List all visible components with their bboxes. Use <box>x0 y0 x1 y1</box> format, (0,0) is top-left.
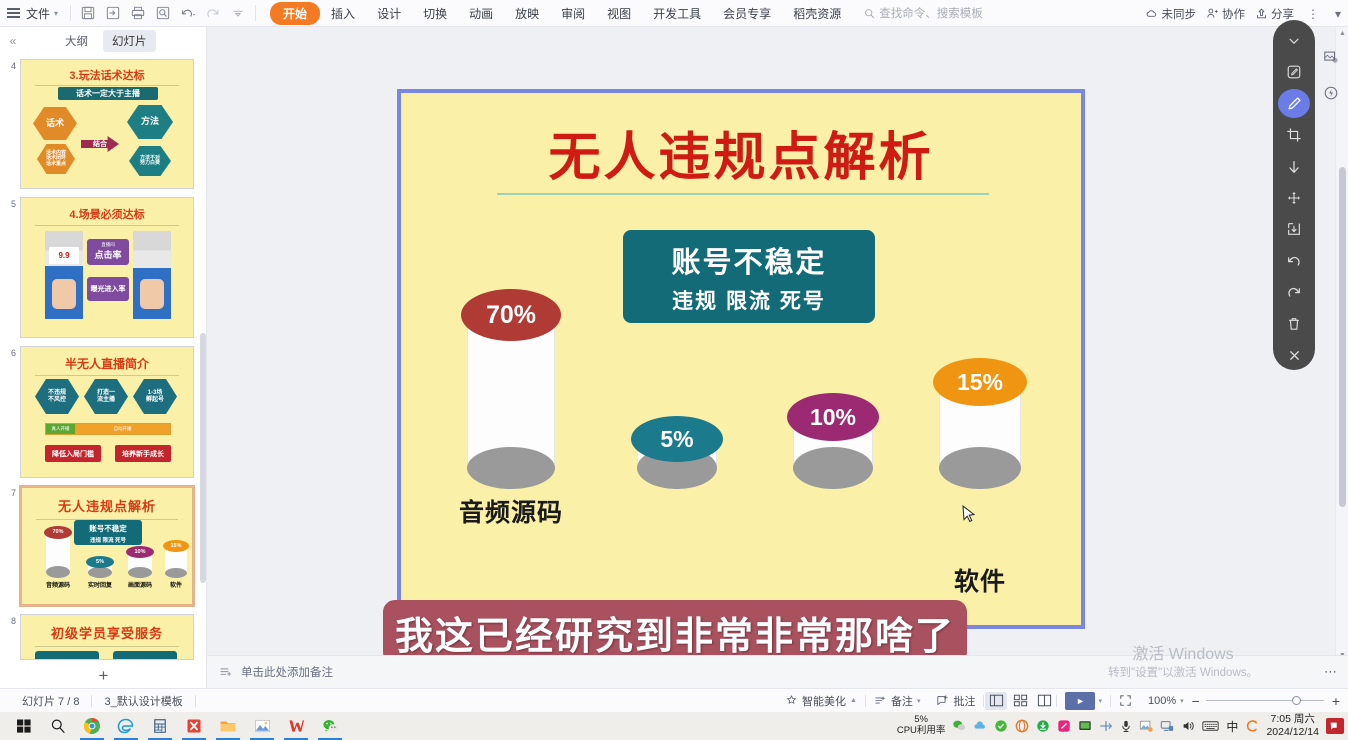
thumb-title: 无人违规点解析 <box>22 496 192 515</box>
screenshot-edit-icon[interactable] <box>1278 57 1310 86</box>
ribbon-bar: 文件 ▾ <box>0 0 1348 27</box>
cloud-sync-label: 未同步 <box>1161 6 1196 22</box>
thumbnail-item[interactable]: 6 半无人直播简介 不违规 不风控 打造一 流主播 1-3场 孵起号 真人开播 … <box>0 342 207 482</box>
display-tray-icon[interactable] <box>1160 719 1174 733</box>
chevron-down-icon[interactable] <box>1278 26 1310 55</box>
thumb-bar-left: 真人开播 <box>46 424 75 434</box>
more-options-icon[interactable]: ⋮ <box>1304 7 1322 21</box>
notes-placeholder: 单击此处添加备注 <box>241 664 333 680</box>
tab-member-exclusive[interactable]: 会员专享 <box>712 2 782 25</box>
stage-scrollbar[interactable]: ▲ ▼ ▾ <box>1335 27 1348 688</box>
cylinder-bar-4[interactable]: 15% 软件 <box>939 358 1021 489</box>
slide-number: 4 <box>2 59 20 71</box>
file-explorer-icon[interactable] <box>218 716 238 736</box>
share-label: 分享 <box>1271 6 1294 22</box>
thumb-arrow-label: 结合 <box>81 136 119 152</box>
slide-thumbnail-4[interactable]: 3.玩法话术达标 话术一定大于主播 话术 方法 话术内容 话术闭环 话术重点 方… <box>20 59 194 189</box>
app-menu-icon[interactable] <box>0 12 26 14</box>
thumb-hand <box>52 279 76 309</box>
status-bar: 幻灯片 7 / 8 3_默认设计模板 智能美化 ▲ 备注 ▾ 批注 <box>0 688 1348 712</box>
thumb-title: 4.场景必须达标 <box>21 206 193 222</box>
divider <box>255 5 256 21</box>
file-menu-button[interactable]: 文件 ▾ <box>26 5 64 22</box>
thumb-bar-label-1: 音频源码 <box>42 580 74 589</box>
normal-view-icon[interactable] <box>985 692 1007 710</box>
bar-value-3: 10% <box>787 393 879 441</box>
windows-taskbar: 5% CPU利用率 中 7:05 周六 2024/12/14 <box>0 712 1348 740</box>
thumb-bar-pct-1: 70% <box>44 526 72 539</box>
comment-icon <box>936 694 949 707</box>
thumb-hex-2: 打造一 流主播 <box>84 379 128 414</box>
zoom-level-label: 100% <box>1148 695 1176 707</box>
customize-qat-icon[interactable] <box>227 3 249 23</box>
delete-trash-icon[interactable] <box>1278 309 1310 338</box>
bar-label-1: 音频源码 <box>439 493 583 529</box>
slide-editing-stage[interactable]: 无人违规点解析 账号不稳定 违规 限流 死号 70% 音频源码 5% 实时回复 <box>207 27 1348 688</box>
close-x-icon[interactable] <box>1278 341 1310 370</box>
share-icon <box>1255 7 1268 20</box>
panel-tabs: 大纲 幻灯片 <box>56 30 156 52</box>
wps-presentation-window: 文件 ▾ <box>0 0 1348 740</box>
tab-transition[interactable]: 切换 <box>412 2 458 25</box>
thumb-bar-4: 15% <box>165 540 187 578</box>
cpu-label: CPU利用率 <box>897 726 946 737</box>
microphone-icon[interactable] <box>1120 719 1132 733</box>
template-name-label[interactable]: 3_默认设计模板 <box>92 693 194 709</box>
zoom-slider-track[interactable] <box>1206 700 1324 701</box>
save-download-icon[interactable] <box>1278 215 1310 244</box>
tab-slideshow[interactable]: 放映 <box>504 2 550 25</box>
thumb-tag-2: 培养新手成长 <box>115 445 171 462</box>
thumb-bar-label-4: 软件 <box>163 580 189 589</box>
thumb-bar-3: 10% <box>128 546 152 578</box>
taskbar-icons <box>0 716 340 736</box>
cylinder-bar-1[interactable]: 70% 音频源码 <box>467 289 555 489</box>
notes-icon <box>219 665 233 679</box>
mouse-cursor <box>962 505 976 523</box>
search-icon[interactable] <box>48 716 68 736</box>
browser-tray-icon[interactable] <box>1015 719 1029 733</box>
right-side-dock <box>1318 46 1344 104</box>
panel-header: « 大纲 幻灯片 <box>0 27 206 55</box>
thumbnail-item-selected[interactable]: 7 无人违规点解析 账号不稳定 违规 限流 死号 70% <box>0 482 207 610</box>
cpu-usage-indicator[interactable]: 5% CPU利用率 <box>897 715 946 737</box>
thumb-box-label: 点击率 <box>87 248 129 261</box>
reading-view-icon[interactable] <box>1033 692 1055 710</box>
callout-sub-text: 违规 限流 死号 <box>672 285 826 315</box>
redo-icon[interactable] <box>202 3 224 23</box>
clock-time: 7:05 周六 <box>1266 713 1319 726</box>
thumb-bar-right: 自动开播 <box>75 424 170 434</box>
pen-icon[interactable] <box>1278 89 1310 118</box>
notes-label: 备注 <box>891 693 913 709</box>
fit-to-window-button[interactable] <box>1111 694 1140 707</box>
divider <box>70 5 71 21</box>
move-icon[interactable] <box>1278 183 1310 212</box>
tab-start[interactable]: 开始 <box>270 2 320 25</box>
bar-value-2: 5% <box>631 416 723 462</box>
thumb-title: 3.玩法话术达标 <box>21 67 193 83</box>
thumb-bar-label-2: 实时回复 <box>84 580 116 589</box>
slide-number: 6 <box>2 346 20 358</box>
thumb-box-exposure: 曝光进入率 <box>87 277 129 301</box>
cylinder-bar-2[interactable]: 5% 实时回复 <box>637 416 717 489</box>
title-underline <box>497 193 989 195</box>
fit-to-window-icon <box>1119 694 1132 707</box>
slide-thumbnail-8[interactable]: 初级学员享受服务 <box>20 614 194 660</box>
excel-icon[interactable] <box>184 716 204 736</box>
scrollbar-thumb[interactable] <box>1339 167 1346 507</box>
slide-title[interactable]: 无人违规点解析 <box>401 115 1081 190</box>
thumb-bar-1: 70% <box>46 526 70 578</box>
redo-icon[interactable] <box>1278 278 1310 307</box>
screen-annotation-toolbar <box>1273 20 1315 370</box>
tab-slides[interactable]: 幻灯片 <box>103 30 156 52</box>
clock-date: 2024/12/14 <box>1266 726 1319 739</box>
thumb-block <box>35 651 99 660</box>
thumb-bar-pct-4: 15% <box>163 540 189 552</box>
current-slide[interactable]: 无人违规点解析 账号不稳定 违规 限流 死号 70% 音频源码 5% 实时回复 <box>397 89 1085 629</box>
windows-start-icon[interactable] <box>14 716 34 736</box>
beautify-label: 智能美化 <box>802 693 846 709</box>
tab-insert[interactable]: 插入 <box>320 2 366 25</box>
quick-action-icon[interactable] <box>1320 82 1342 104</box>
search-icon <box>864 8 875 19</box>
play-slideshow-button[interactable]: ► <box>1065 692 1095 710</box>
zoom-slider-knob[interactable] <box>1292 696 1301 705</box>
system-tray: 5% CPU利用率 中 7:05 周六 2024/12/14 <box>897 713 1344 738</box>
download-tray-icon[interactable] <box>1036 719 1050 733</box>
internet-explorer-icon[interactable] <box>116 716 136 736</box>
thumb-hex-left-sub: 话术内容 话术闭环 话术重点 <box>37 144 75 174</box>
slide-thumbnail-panel: « 大纲 幻灯片 4 3.玩法话术达标 话术一定大于主播 话术 方法 话术内容 … <box>0 27 207 688</box>
ribbon-right-actions: 未同步 协作 分享 ⋮ ▾ <box>1145 0 1344 27</box>
volume-icon[interactable] <box>1181 719 1195 733</box>
sogou-icon[interactable] <box>1245 719 1259 733</box>
tab-docer-resources[interactable]: 稻壳资源 <box>782 2 852 25</box>
thumb-hand <box>140 279 164 309</box>
thumb-price: 9.9 <box>49 247 79 264</box>
calculator-icon[interactable] <box>150 716 170 736</box>
bar-value-1: 70% <box>461 289 561 341</box>
thumb-teal-main: 账号不稳定 <box>74 523 142 534</box>
chevron-down-icon: ▾ <box>1180 697 1184 705</box>
zoom-level-button[interactable]: 100% ▾ <box>1140 695 1186 707</box>
thumb-bar-pct-2: 5% <box>86 556 114 568</box>
ime-chinese-icon[interactable]: 中 <box>1226 718 1238 735</box>
notification-icon[interactable] <box>1326 718 1344 734</box>
network-share-icon[interactable] <box>1099 719 1113 733</box>
slide-thumbnail-7[interactable]: 无人违规点解析 账号不稳定 违规 限流 死号 70% <box>20 486 194 606</box>
scroll-up-icon[interactable]: ▲ <box>1336 27 1348 40</box>
wps-office-icon[interactable] <box>286 716 306 736</box>
thumb-box-click: 直播间 点击率 <box>87 239 129 265</box>
slide-number: 7 <box>2 486 20 498</box>
share-button[interactable]: 分享 <box>1255 6 1294 22</box>
thumbnail-item[interactable]: 4 3.玩法话术达标 话术一定大于主播 话术 方法 话术内容 话术闭环 话术重点… <box>0 55 207 193</box>
chevron-down-icon[interactable]: ▾ <box>1098 697 1102 705</box>
thumb-teal-sub: 违规 限流 死号 <box>74 536 142 544</box>
zoom-slider[interactable]: − + <box>1186 693 1340 709</box>
thumb-title: 初级学员享受服务 <box>21 623 193 642</box>
quick-access-toolbar <box>77 3 249 23</box>
collaborate-label: 协作 <box>1222 6 1245 22</box>
tab-view[interactable]: 视图 <box>596 2 642 25</box>
status-left: 幻灯片 7 / 8 3_默认设计模板 <box>0 693 196 709</box>
comment-label: 批注 <box>953 693 975 709</box>
thumb-phone-right <box>133 231 171 319</box>
slide-thumbnail-6[interactable]: 半无人直播简介 不违规 不风控 打造一 流主播 1-3场 孵起号 真人开播 自动… <box>20 346 194 478</box>
save-as-icon[interactable] <box>102 3 124 23</box>
slide-sorter-icon[interactable] <box>1009 692 1031 710</box>
thumb-phone-left: 9.9 <box>45 231 83 319</box>
chevron-up-icon: ▲ <box>850 697 857 704</box>
slide-number: 5 <box>2 197 20 209</box>
thumb-bar-pct-3: 10% <box>126 546 154 558</box>
clock[interactable]: 7:05 周六 2024/12/14 <box>1266 713 1319 738</box>
beautify-icon <box>785 694 798 707</box>
zoom-out-button[interactable]: − <box>1192 693 1200 709</box>
chrome-icon[interactable] <box>82 716 102 736</box>
tab-review[interactable]: 审阅 <box>550 2 596 25</box>
callout-main-text: 账号不稳定 <box>671 239 826 281</box>
slide-number: 8 <box>2 614 20 626</box>
thumb-banner: 话术一定大于主播 <box>58 87 158 100</box>
undo-icon[interactable] <box>177 3 199 23</box>
save-icon[interactable] <box>77 3 99 23</box>
thumbnail-item[interactable]: 5 4.场景必须达标 9.9 直播间 点击率 曝光进入率 <box>0 193 207 342</box>
undo-icon[interactable] <box>1278 246 1310 275</box>
print-preview-icon[interactable] <box>152 3 174 23</box>
more-dots-icon[interactable]: ⋯ <box>1324 664 1338 680</box>
thumb-block <box>113 651 177 660</box>
chevron-down-icon: ▾ <box>917 697 921 705</box>
tab-animation[interactable]: 动画 <box>458 2 504 25</box>
thumb-hex-1: 不违规 不风控 <box>35 379 79 414</box>
collapse-left-icon[interactable]: « <box>0 34 26 48</box>
thumb-bar-label-3: 画面源码 <box>124 580 156 589</box>
thumbnail-scrollbar[interactable] <box>200 83 207 688</box>
arrow-pointer-icon[interactable] <box>1278 152 1310 181</box>
keyboard-icon[interactable] <box>1202 720 1219 732</box>
thumbnail-item[interactable]: 8 初级学员享受服务 <box>0 610 207 664</box>
slide-count-label: 幻灯片 7 / 8 <box>10 693 91 709</box>
thumb-title: 半无人直播简介 <box>21 355 193 372</box>
bar-value-4: 15% <box>933 358 1027 406</box>
smart-beautify-button[interactable]: 智能美化 ▲ <box>777 693 865 709</box>
app-tray-icon[interactable] <box>1057 719 1071 733</box>
tab-developer-tools[interactable]: 开发工具 <box>642 2 712 25</box>
print-icon[interactable] <box>127 3 149 23</box>
collaborate-button[interactable]: 协作 <box>1206 6 1245 22</box>
cloud-sync-icon <box>1145 7 1158 20</box>
search-input[interactable]: 查找命令、搜索模板 <box>864 5 983 21</box>
tab-design[interactable]: 设计 <box>366 2 412 25</box>
thumb-tag-1: 降低入局门槛 <box>45 445 101 462</box>
collapse-ribbon-icon[interactable]: ▾ <box>1332 7 1344 21</box>
collaborate-icon <box>1206 7 1219 20</box>
thumb-teal-box: 账号不稳定 违规 限流 死号 <box>74 520 142 545</box>
thumb-hex-3: 1-3场 孵起号 <box>133 379 177 414</box>
green-tray-icon[interactable] <box>994 719 1008 733</box>
picture-tools-icon[interactable] <box>1320 46 1342 68</box>
wechat-icon[interactable] <box>320 716 340 736</box>
tab-outline[interactable]: 大纲 <box>56 30 97 52</box>
thumb-hex-left: 话术 <box>33 107 77 140</box>
photo-tray-icon[interactable] <box>1139 719 1153 733</box>
slide-thumbnail-5[interactable]: 4.场景必须达标 9.9 直播间 点击率 曝光进入率 <box>20 197 194 338</box>
search-placeholder: 查找命令、搜索模板 <box>879 5 983 21</box>
cloud-sync-button[interactable]: 未同步 <box>1145 6 1196 22</box>
photos-icon[interactable] <box>252 716 272 736</box>
bar-label-4: 软件 <box>911 562 1049 598</box>
add-slide-plus-icon[interactable]: + <box>0 666 207 686</box>
screen-tray-icon[interactable] <box>1078 719 1092 733</box>
cloud-tray-icon[interactable] <box>973 719 987 733</box>
zoom-in-button[interactable]: + <box>1330 693 1340 709</box>
cylinder-bar-3[interactable]: 10% 画面源码 <box>793 393 873 489</box>
thumb-hex-right: 方法 <box>127 105 173 139</box>
comment-button[interactable]: 批注 <box>928 693 983 709</box>
wechat-tray-icon[interactable] <box>952 719 966 733</box>
chevron-down-icon: ▾ <box>54 9 58 18</box>
thumb-hex-right-sub: 方法不对 努力白费 <box>129 146 171 176</box>
callout-box[interactable]: 账号不稳定 违规 限流 死号 <box>623 230 875 323</box>
file-menu-label: 文件 <box>26 5 50 22</box>
crop-icon[interactable] <box>1278 120 1310 149</box>
notes-bar[interactable]: 单击此处添加备注 ⋯ <box>207 655 1348 688</box>
status-right: 智能美化 ▲ 备注 ▾ 批注 <box>777 692 1340 710</box>
thumb-bar-2: 5% <box>88 556 112 578</box>
notes-icon <box>874 694 887 707</box>
thumbnail-list[interactable]: 4 3.玩法话术达标 话术一定大于主播 话术 方法 话术内容 话术闭环 话术重点… <box>0 55 207 688</box>
ribbon-tabs: 开始 插入 设计 切换 动画 放映 审阅 视图 开发工具 会员专享 稻壳资源 <box>270 2 852 25</box>
thumb-bar-track: 真人开播 自动开播 <box>45 423 171 435</box>
notes-toggle-button[interactable]: 备注 ▾ <box>866 693 929 709</box>
